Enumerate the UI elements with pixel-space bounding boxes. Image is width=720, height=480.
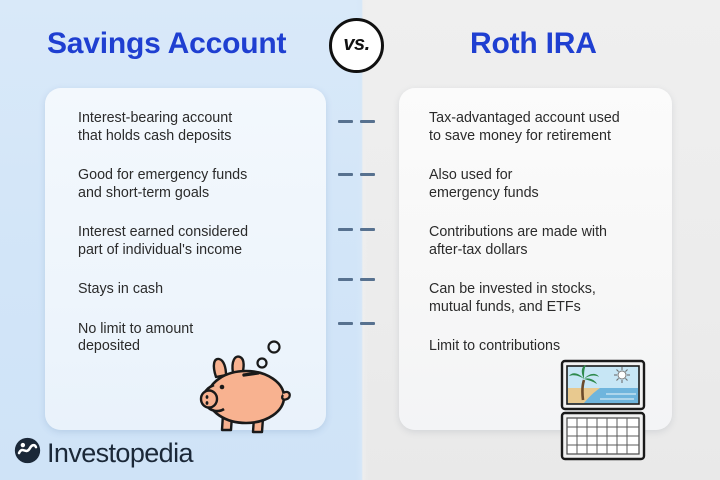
savings-bullet-3: Interest earned consideredpart of indivi…: [78, 224, 326, 259]
savings-bullet-1: Interest-bearing accountthat holds cash …: [78, 110, 326, 145]
divider-dash: [360, 173, 375, 176]
divider-dash: [360, 278, 375, 281]
divider-dash: [360, 228, 375, 231]
investopedia-logo: Investopedia: [14, 437, 193, 469]
heading-roth-ira: Roth IRA: [470, 27, 597, 61]
savings-bullet-2: Good for emergency fundsand short-term g…: [78, 167, 326, 202]
roth-bullet-1-line-2: to save money for retirement: [429, 128, 672, 146]
divider-dash: [338, 120, 353, 123]
roth-ira-bullet-list: Tax-advantaged account usedto save money…: [399, 88, 672, 378]
roth-bullet-4-line-2: mutual funds, and ETFs: [429, 299, 672, 317]
divider-dash-row-5: [338, 322, 375, 325]
divider-dash-row-2: [338, 173, 375, 176]
heading-savings-account: Savings Account: [47, 27, 286, 61]
savings-bullet-1-line-1: Interest-bearing account: [78, 110, 326, 128]
savings-bullet-4: Stays in cash: [78, 281, 326, 299]
divider-dash-row-4: [338, 278, 375, 281]
roth-bullet-4-line-1: Can be invested in stocks,: [429, 281, 672, 299]
roth-bullet-5: Limit to contributions: [429, 338, 672, 356]
vs-badge-label: vs.: [343, 33, 369, 56]
savings-bullet-3-line-2: part of individual's income: [78, 242, 326, 260]
savings-bullet-3-line-1: Interest earned considered: [78, 224, 326, 242]
divider-dash-row-1: [338, 120, 375, 123]
roth-bullet-3-line-2: after-tax dollars: [429, 242, 672, 260]
roth-bullet-4: Can be invested in stocks,mutual funds, …: [429, 281, 672, 316]
laptop-beach-icon: [556, 358, 651, 463]
divider-dash: [338, 228, 353, 231]
roth-bullet-3-line-1: Contributions are made with: [429, 224, 672, 242]
divider-dash: [338, 322, 353, 325]
savings-bullet-2-line-2: and short-term goals: [78, 185, 326, 203]
savings-bullet-2-line-1: Good for emergency funds: [78, 167, 326, 185]
divider-dash: [360, 120, 375, 123]
savings-bullet-4-line-1: Stays in cash: [78, 281, 326, 299]
roth-bullet-2-line-1: Also used for: [429, 167, 672, 185]
divider-dash: [360, 322, 375, 325]
investopedia-wordmark: Investopedia: [47, 438, 193, 469]
infographic-canvas: Savings Account Roth IRA vs. Interest-be…: [0, 0, 720, 480]
roth-bullet-3: Contributions are made withafter-tax dol…: [429, 224, 672, 259]
roth-bullet-2-line-2: emergency funds: [429, 185, 672, 203]
divider-dash-row-3: [338, 228, 375, 231]
roth-bullet-1: Tax-advantaged account usedto save money…: [429, 110, 672, 145]
savings-bullet-1-line-2: that holds cash deposits: [78, 128, 326, 146]
vs-badge: vs.: [329, 18, 384, 73]
divider-dash: [338, 173, 353, 176]
divider-dash: [338, 278, 353, 281]
roth-bullet-2: Also used foremergency funds: [429, 167, 672, 202]
roth-bullet-5-line-1: Limit to contributions: [429, 338, 672, 356]
roth-bullet-1-line-1: Tax-advantaged account used: [429, 110, 672, 128]
investopedia-mark-icon: [14, 437, 41, 469]
piggy-bank-icon: [192, 335, 312, 440]
